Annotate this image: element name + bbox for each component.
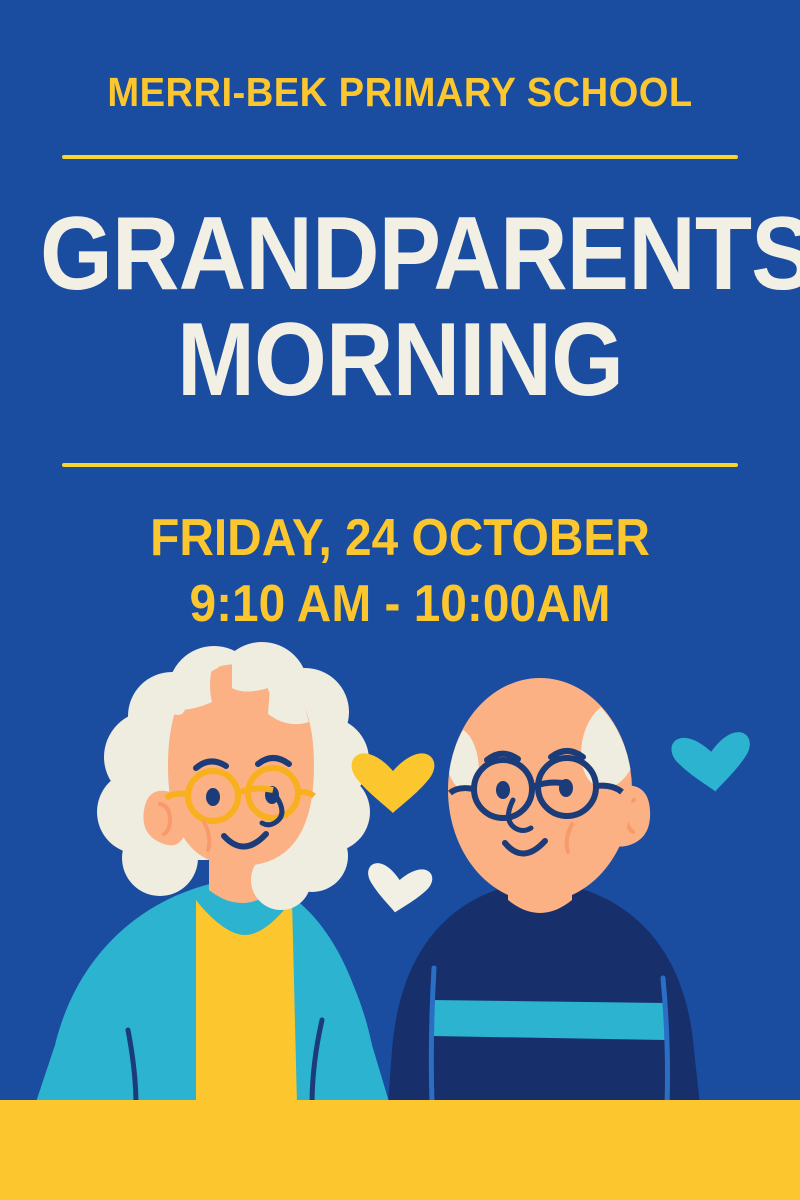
- school-name: MERRI-BEK PRIMARY SCHOOL: [28, 72, 772, 113]
- event-date: FRIDAY, 24 OCTOBER: [32, 512, 768, 564]
- event-time: 9:10 AM - 10:00AM: [32, 578, 768, 630]
- grandfather-figure: [388, 678, 700, 1105]
- grandfather-seam-left: [431, 968, 434, 1105]
- page-title-line-2: MORNING: [40, 310, 760, 411]
- grandmother-figure: [35, 642, 390, 1105]
- grandfather-sweater-stripe: [432, 1000, 666, 1040]
- footer-band: [0, 1100, 800, 1200]
- heart-cream: [363, 862, 433, 917]
- grandmother-eye-left: [206, 788, 220, 806]
- divider-rule-bottom: [62, 463, 738, 467]
- page-title-line-1: GRANDPARENTS': [40, 204, 760, 305]
- heart-teal: [670, 731, 754, 796]
- poster-canvas: MERRI-BEK PRIMARY SCHOOL GRANDPARENTS' M…: [0, 0, 800, 1200]
- grandfather-eye-left: [496, 781, 510, 799]
- divider-rule-top: [62, 155, 738, 159]
